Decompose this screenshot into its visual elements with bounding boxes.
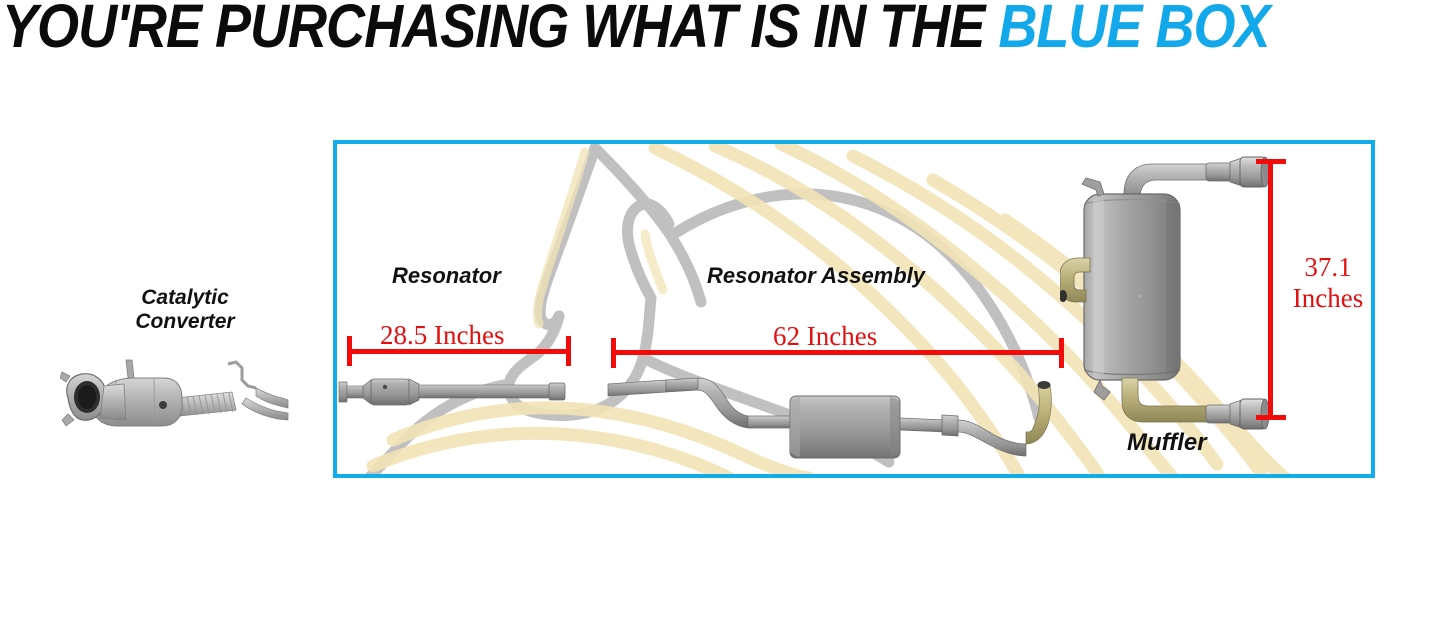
header-title-black: YOU'RE PURCHASING WHAT IS IN THE <box>2 0 998 56</box>
label-muffler: Muffler <box>1127 430 1207 457</box>
header-title-blue: BLUE BOX <box>998 0 1269 56</box>
label-resonator-assembly: Resonator Assembly <box>707 264 925 289</box>
muffler-graphic <box>1060 150 1275 440</box>
dimension-cap-muffler-top <box>1256 159 1286 164</box>
catalytic-converter-graphic <box>60 352 290 434</box>
dimension-muffler-unit: Inches <box>1288 283 1368 314</box>
header-title: YOU'RE PURCHASING WHAT IS IN THE BLUE BO… <box>2 0 1270 56</box>
label-catalytic-converter: Catalytic Converter <box>130 286 240 333</box>
dimension-cap-assembly-right <box>1059 338 1064 368</box>
dimension-cap-assembly-left <box>611 338 616 368</box>
dimension-cap-resonator-right <box>566 336 571 366</box>
label-catalytic-line1: Catalytic <box>130 286 240 310</box>
resonator-assembly-graphic <box>606 358 1076 468</box>
dimension-line-muffler-height <box>1268 159 1273 420</box>
dimension-label-resonator-length: 28.5 Inches <box>380 320 504 351</box>
dimension-cap-muffler-bottom <box>1256 415 1286 420</box>
dimension-muffler-value: 37.1 <box>1288 252 1368 283</box>
resonator-graphic <box>337 372 577 412</box>
dimension-label-muffler-height: 37.1 Inches <box>1288 252 1368 314</box>
dimension-label-resonator-assembly-length: 62 Inches <box>773 321 877 352</box>
header-banner: YOU'RE PURCHASING WHAT IS IN THE BLUE BO… <box>0 0 1445 56</box>
dimension-line-resonator-assembly <box>611 350 1064 355</box>
dimension-line-resonator <box>347 349 571 354</box>
dimension-cap-resonator-left <box>347 336 352 366</box>
exhaust-system-diagram: YOU'RE PURCHASING WHAT IS IN THE BLUE BO… <box>0 0 1445 619</box>
label-catalytic-line2: Converter <box>130 310 240 334</box>
label-resonator: Resonator <box>392 264 501 289</box>
